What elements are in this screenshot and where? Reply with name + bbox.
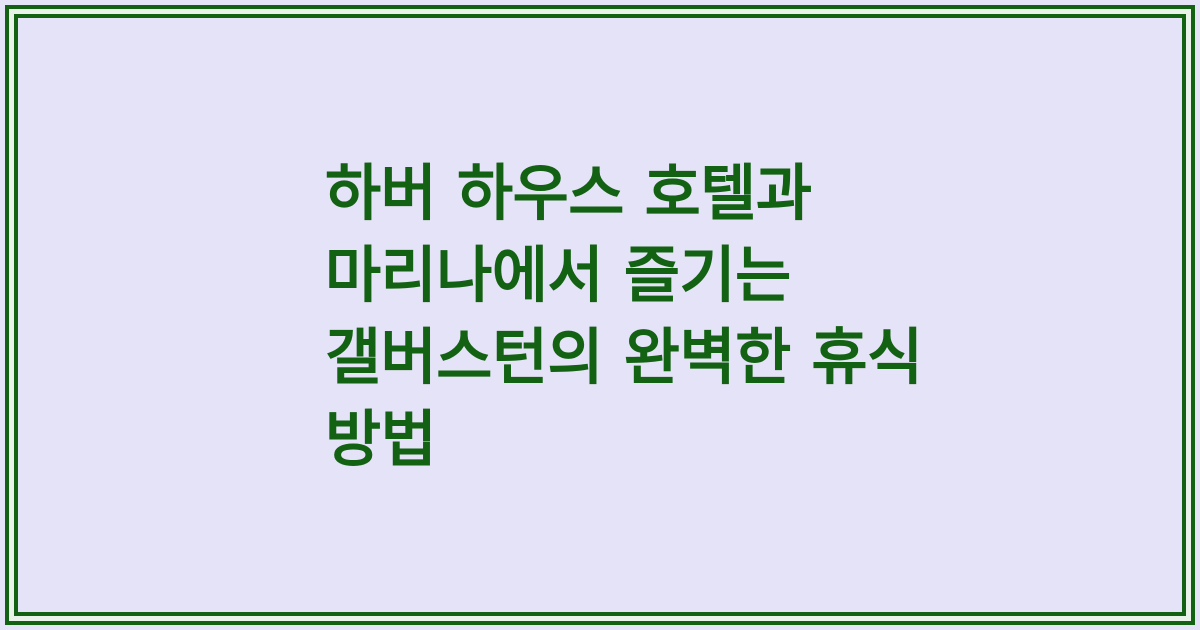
social-share-card: 하버 하우스 호텔과 마리나에서 즐기는 갤버스턴의 완벽한 휴식 방법 [0, 0, 1200, 630]
outer-border-frame: 하버 하우스 호텔과 마리나에서 즐기는 갤버스턴의 완벽한 휴식 방법 [5, 5, 1195, 625]
inner-border-frame: 하버 하우스 호텔과 마리나에서 즐기는 갤버스턴의 완벽한 휴식 방법 [14, 14, 1186, 616]
page-title: 하버 하우스 호텔과 마리나에서 즐기는 갤버스턴의 완벽한 휴식 방법 [325, 153, 945, 481]
card-content-area: 하버 하우스 호텔과 마리나에서 즐기는 갤버스턴의 완벽한 휴식 방법 [18, 18, 1182, 612]
